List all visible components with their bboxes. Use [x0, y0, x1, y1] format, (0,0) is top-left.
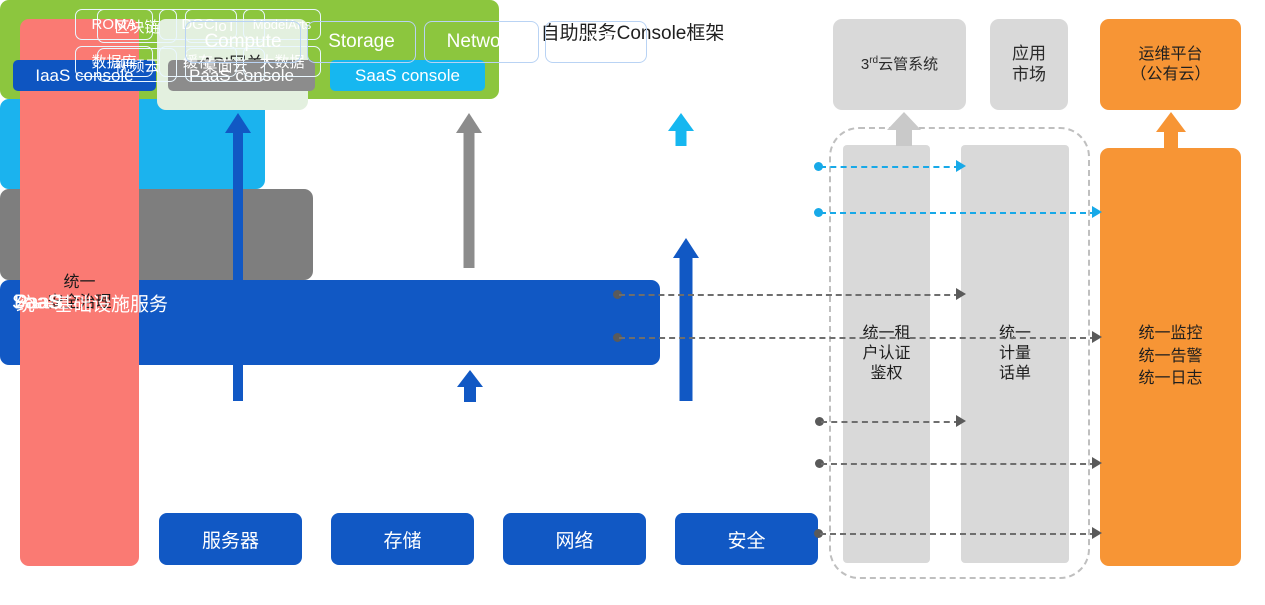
connector-infra-to-auth — [821, 421, 960, 423]
third-party-cloud-management-box: 3rd云管系统 — [833, 19, 966, 110]
saas-console-button[interactable]: SaaS console — [330, 60, 485, 91]
infra-item-storage[interactable]: Storage — [307, 21, 416, 63]
connector-resources-to-monitoring — [820, 533, 1096, 535]
architecture-diagram: 统一 安全治理 API网关 自助服务Console框架 IaaS console… — [0, 0, 1265, 605]
connector-saas-to-metering — [820, 166, 960, 168]
arrow-shared-to-third-party — [887, 112, 921, 146]
infra-item-compute[interactable]: Compute — [185, 21, 301, 63]
connector-paas-to-monitoring — [619, 337, 1096, 339]
arrow-infra-to-api-gateway — [225, 113, 251, 401]
third-party-superscript: rd — [869, 55, 878, 66]
arrowhead-paas-to-monitoring — [1092, 331, 1102, 343]
third-party-label: 3rd云管系统 — [861, 55, 938, 74]
infra-item-cce[interactable]: CCE — [545, 21, 647, 63]
arrowhead-resources-to-monitoring — [1092, 527, 1102, 539]
arrow-infra-to-paas — [457, 370, 483, 402]
ops-platform-box: 运维平台 （公有云） — [1100, 19, 1241, 110]
connector-infra-to-monitoring — [821, 463, 1096, 465]
shared-service-metering-billing: 统一 计量 话单 — [961, 145, 1069, 563]
resource-box-storage[interactable]: 存储 — [331, 513, 474, 565]
arrowhead-paas-to-auth — [956, 288, 966, 300]
paas-item-database[interactable]: 数据库 — [75, 46, 153, 77]
unified-monitoring-panel: 统一监控 统一告警 统一日志 — [1100, 148, 1241, 566]
arrow-paas-to-console — [456, 113, 482, 268]
resource-box-network[interactable]: 网络 — [503, 513, 646, 565]
infrastructure-label: 统一基础设施服务 — [16, 289, 168, 316]
resource-box-server[interactable]: 服务器 — [159, 513, 302, 565]
arrowhead-saas-to-monitoring — [1092, 206, 1102, 218]
arrowhead-saas-to-metering — [956, 160, 966, 172]
connector-saas-to-monitoring — [820, 212, 1096, 214]
arrowhead-infra-to-monitoring — [1092, 457, 1102, 469]
arrowhead-infra-to-auth — [956, 415, 966, 427]
paas-item-roma[interactable]: ROMA — [75, 9, 153, 40]
resource-box-security[interactable]: 安全 — [675, 513, 818, 565]
arrow-infra-to-saas — [673, 238, 699, 401]
arrow-monitoring-to-ops — [1155, 112, 1187, 149]
shared-service-tenant-auth: 统一租 户认证 鉴权 — [843, 145, 930, 563]
arrow-saas-to-console — [668, 113, 694, 146]
infra-item-network[interactable]: Network — [424, 21, 539, 63]
app-market-box: 应用 市场 — [990, 19, 1068, 110]
connector-paas-to-auth — [619, 294, 960, 296]
